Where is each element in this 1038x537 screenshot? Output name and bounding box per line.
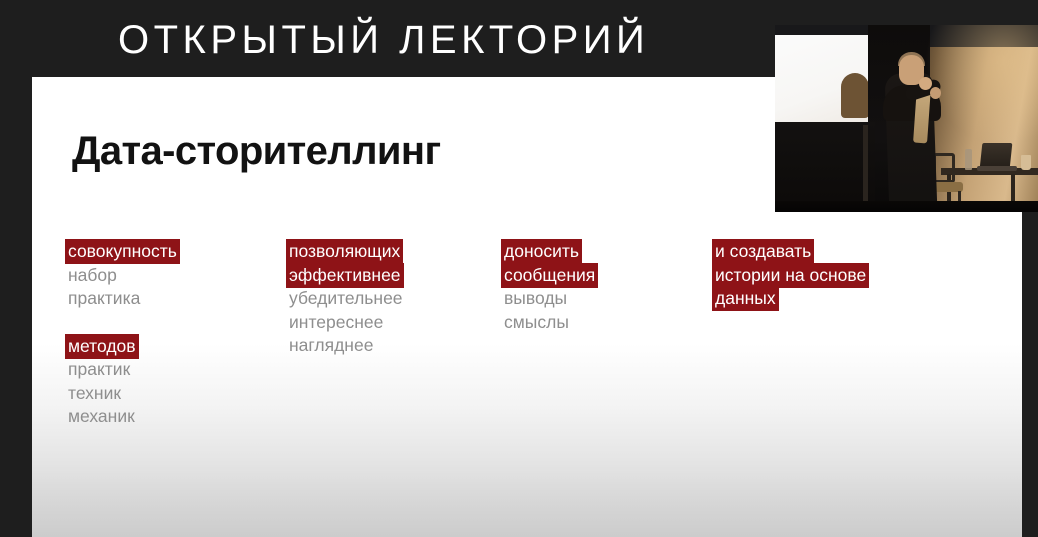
term-text: убедительнее — [287, 287, 405, 310]
speaker-hand-upper — [919, 77, 932, 90]
stage-floor — [775, 201, 1038, 212]
term-text: данных — [713, 287, 778, 310]
term-text: сообщения — [502, 264, 597, 287]
term-text: техник — [66, 382, 123, 405]
plain-term: убедительнее — [287, 287, 405, 311]
highlighted-term: методов — [66, 335, 179, 359]
plain-term: практик — [66, 358, 179, 382]
highlighted-term: эффективнее — [287, 264, 405, 288]
highlighted-term: позволяющих — [287, 240, 405, 264]
highlighted-term: и создавать — [713, 240, 868, 264]
water-bottle — [965, 149, 972, 170]
plain-term: смыслы — [502, 311, 597, 335]
term-text: практик — [66, 358, 132, 381]
cup — [1021, 155, 1031, 170]
highlighted-term: сообщения — [502, 264, 597, 288]
term-text: позволяющих — [287, 240, 402, 263]
speaker-video-inset[interactable] — [775, 25, 1038, 212]
term-text: набор — [66, 264, 119, 287]
screen-stand — [863, 125, 868, 212]
term-text: доносить — [502, 240, 581, 263]
column-4: и создаватьистории на основеданных — [713, 240, 868, 311]
column-2: позволяющихэффективнееубедительнееинтере… — [287, 240, 405, 358]
column-1-group-2: методовпрактиктехникмеханик — [66, 335, 179, 429]
term-text: механик — [66, 405, 137, 428]
laptop-base — [977, 166, 1017, 171]
term-text: эффективнее — [287, 264, 403, 287]
plain-term: набор — [66, 264, 179, 288]
column-3-group-1: доноситьсообщениявыводысмыслы — [502, 240, 597, 334]
term-text: интереснее — [287, 311, 385, 334]
wall-light-glow — [925, 25, 1038, 145]
term-text: совокупность — [66, 240, 179, 263]
column-1: совокупностьнаборпрактикаметодовпрактикт… — [66, 240, 179, 429]
plain-term: техник — [66, 382, 179, 406]
highlighted-term: доносить — [502, 240, 597, 264]
term-text: нагляднее — [287, 334, 375, 357]
term-text: истории на основе — [713, 264, 868, 287]
term-text: практика — [66, 287, 142, 310]
presentation-stream-view: ОТКРЫТЫЙ ЛЕКТОРИЙ Дата-сторителлинг сово… — [0, 0, 1038, 537]
term-text: смыслы — [502, 311, 571, 334]
plain-term: практика — [66, 287, 179, 311]
speaker-hand-lower — [930, 87, 941, 99]
audience-silhouette — [841, 73, 869, 118]
plain-term: выводы — [502, 287, 597, 311]
term-text: и создавать — [713, 240, 813, 263]
banner-title: ОТКРЫТЫЙ ЛЕКТОРИЙ — [118, 18, 649, 62]
plain-term: механик — [66, 405, 179, 429]
column-3: доноситьсообщениявыводысмыслы — [502, 240, 597, 334]
column-4-group-1: и создаватьистории на основеданных — [713, 240, 868, 311]
highlighted-term: истории на основе — [713, 264, 868, 288]
plain-term: нагляднее — [287, 334, 405, 358]
term-text: выводы — [502, 287, 569, 310]
column-2-group-1: позволяющихэффективнееубедительнееинтере… — [287, 240, 405, 358]
stage-dark-block — [775, 122, 875, 212]
highlighted-term: данных — [713, 287, 868, 311]
highlighted-term: совокупность — [66, 240, 179, 264]
term-text: методов — [66, 335, 138, 358]
slide-title: Дата-сторителлинг — [72, 129, 441, 174]
plain-term: интереснее — [287, 311, 405, 335]
column-1-group-1: совокупностьнаборпрактика — [66, 240, 179, 311]
